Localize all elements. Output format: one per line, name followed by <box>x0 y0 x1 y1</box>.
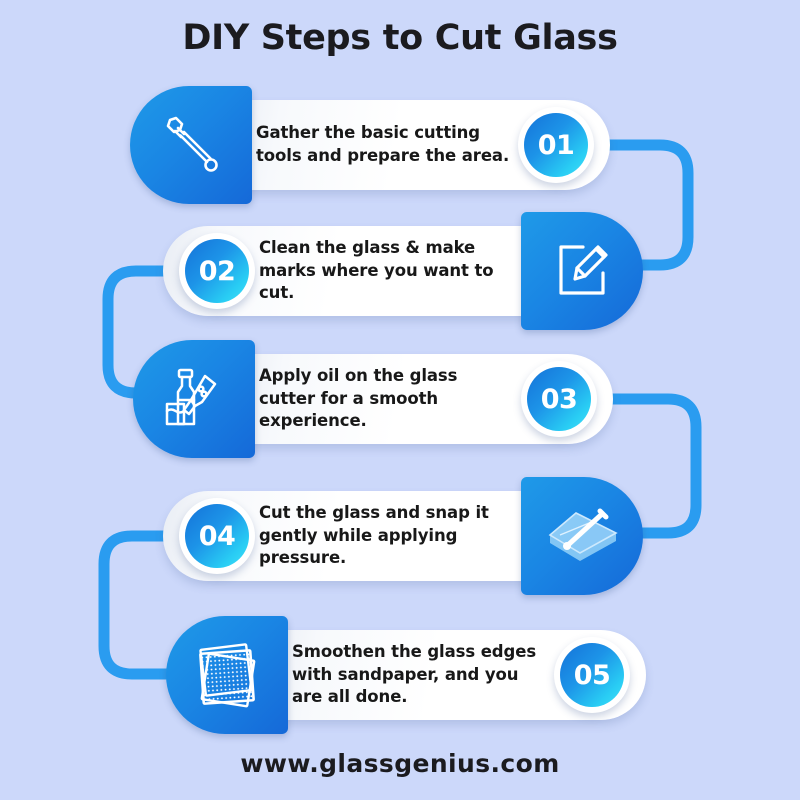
step-1-icon-panel <box>130 86 252 204</box>
step-2-number: 02 <box>185 239 249 303</box>
step-3-text: Apply oil on the glass cutter for a smoo… <box>259 365 517 433</box>
step-4-number: 04 <box>185 504 249 568</box>
step-2-number-badge: 02 <box>179 233 255 309</box>
glass-sheet-cutting-icon <box>542 499 622 573</box>
step-1-number: 01 <box>524 113 588 177</box>
step-3-number-badge: 03 <box>521 361 597 437</box>
step-row-5[interactable]: Smoothen the glass edges with sandpaper,… <box>166 616 646 734</box>
sandpaper-stack-icon <box>189 637 265 713</box>
step-4-number-badge: 04 <box>179 498 255 574</box>
step-2-text: Clean the glass & make marks where you w… <box>259 237 521 305</box>
step-row-1[interactable]: Gather the basic cutting tools and prepa… <box>130 86 610 204</box>
step-row-3[interactable]: Apply oil on the glass cutter for a smoo… <box>133 340 613 458</box>
step-5-number-badge: 05 <box>554 637 630 713</box>
step-3-icon-panel <box>133 340 255 458</box>
step-2-icon-panel <box>521 212 643 330</box>
step-5-text: Smoothen the glass edges with sandpaper,… <box>292 641 550 709</box>
step-4-icon-panel <box>521 477 643 595</box>
pencil-edit-square-icon <box>546 235 618 307</box>
step-row-4[interactable]: Cut the glass and snap it gently while a… <box>163 477 643 595</box>
infographic-root: DIY Steps to Cut Glass G <box>0 0 800 800</box>
step-5-icon-panel <box>166 616 288 734</box>
step-row-2[interactable]: Clean the glass & make marks where you w… <box>163 212 643 330</box>
step-5-number: 05 <box>560 643 624 707</box>
glass-cutter-tool-icon <box>155 109 227 181</box>
step-4-text: Cut the glass and snap it gently while a… <box>259 502 521 570</box>
step-3-number: 03 <box>527 367 591 431</box>
oil-bottle-cutter-icon <box>157 362 231 436</box>
step-1-number-badge: 01 <box>518 107 594 183</box>
step-1-text: Gather the basic cutting tools and prepa… <box>256 122 514 168</box>
